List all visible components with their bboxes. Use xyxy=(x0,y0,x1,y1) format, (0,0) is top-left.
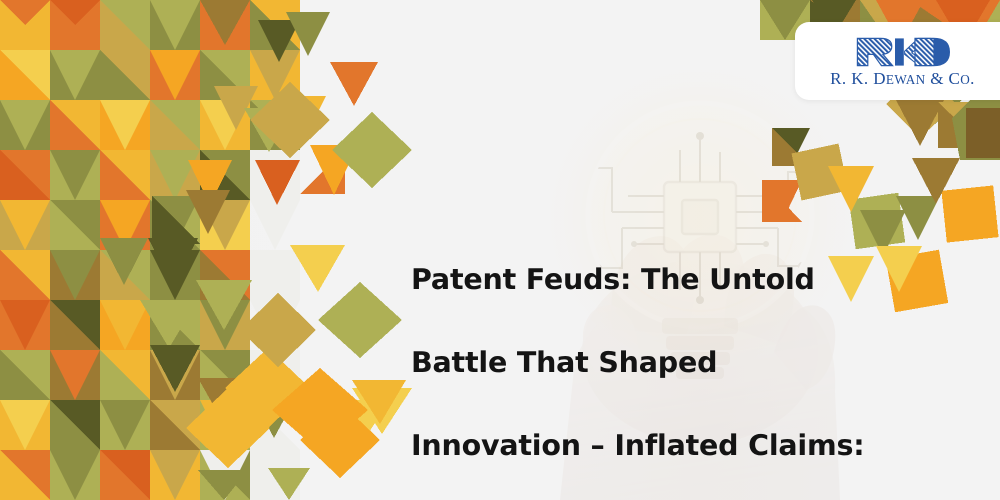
company-name-part-5: . xyxy=(970,69,975,88)
company-name-part-2: EWAN xyxy=(886,72,926,87)
company-name: R. K. DEWAN & CO. xyxy=(830,70,975,87)
rkd-monogram-icon xyxy=(855,36,951,68)
brand-logo-card[interactable]: R. K. DEWAN & CO. xyxy=(795,22,1000,100)
headline-line-1: Patent Feuds: The Untold xyxy=(411,259,881,301)
banner-headline: Patent Feuds: The Untold Battle That Sha… xyxy=(411,217,881,500)
headline-line-2: Battle That Shaped xyxy=(411,342,881,384)
marketing-banner: Patent Feuds: The Untold Battle That Sha… xyxy=(0,0,1000,500)
company-name-part-3: & C xyxy=(926,69,961,88)
company-name-part-4: O xyxy=(960,72,970,87)
headline-line-3: Innovation – Inflated Claims: xyxy=(411,425,881,467)
company-name-part-1: R. K. D xyxy=(830,69,886,88)
